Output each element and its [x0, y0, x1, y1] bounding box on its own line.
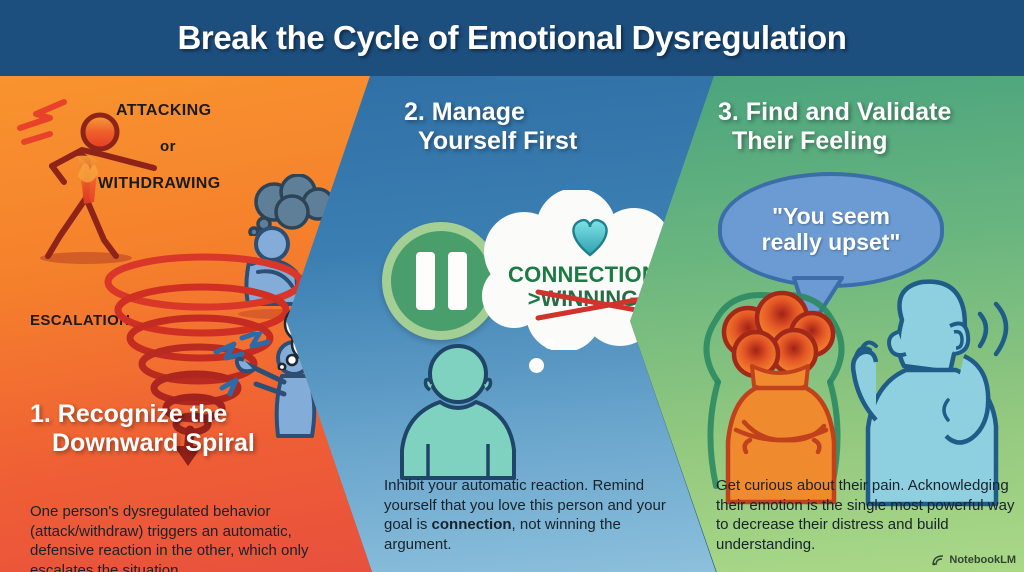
panel-2-heading-line2: Yourself First	[404, 127, 577, 156]
panel-3-heading-line1: 3. Find and Validate	[718, 98, 951, 126]
listening-person-hand-to-ear-icon	[846, 270, 1024, 510]
panel-2-heading: 2. Manage Yourself First	[404, 98, 577, 156]
watermark-label: NotebookLM	[949, 554, 1016, 566]
panels-container: ATTACKING or WITHDRAWING ESCALATION	[0, 70, 1024, 572]
panel-1-body: One person's dysregulated behavior (atta…	[30, 502, 330, 572]
notebooklm-logo-icon	[932, 555, 945, 566]
thought-bubble-dot-small-icon	[544, 338, 555, 349]
label-withdrawing: WITHDRAWING	[98, 175, 221, 193]
thought-bubble-dot-large-icon	[529, 358, 544, 373]
panel-2-heading-line1: 2. Manage	[404, 98, 525, 126]
pause-bar-left	[416, 252, 435, 310]
panel-2-body: Inhibit your automatic reaction. Remind …	[384, 476, 676, 554]
speech-line-2: really upset"	[762, 229, 901, 255]
heart-icon	[568, 215, 612, 257]
speech-bubble-text: "You seem really upset"	[762, 204, 901, 256]
panel-3-heading: 3. Find and Validate Their Feeling	[718, 98, 951, 156]
infographic-root: Break the Cycle of Emotional Dysregulati…	[0, 0, 1024, 572]
header-bar: Break the Cycle of Emotional Dysregulati…	[0, 0, 1024, 76]
panel-1-heading-line1: 1. Recognize the	[30, 400, 227, 428]
speech-line-1: "You seem	[772, 203, 890, 229]
watermark: NotebookLM	[932, 554, 1016, 566]
calm-person-figure-icon	[390, 340, 526, 480]
label-attacking: ATTACKING	[116, 102, 211, 120]
panel-1-heading: 1. Recognize the Downward Spiral	[30, 400, 255, 458]
greater-than-symbol: >	[528, 286, 541, 311]
pause-bar-right	[448, 252, 467, 310]
panel-3-body: Get curious about their pain. Acknowledg…	[716, 476, 1016, 554]
panel-1-heading-line2: Downward Spiral	[30, 429, 255, 458]
page-title: Break the Cycle of Emotional Dysregulati…	[177, 19, 846, 57]
label-or: or	[160, 138, 176, 155]
panel-3-heading-line2: Their Feeling	[718, 127, 888, 156]
panel-2-body-bold: connection	[432, 516, 512, 533]
winning-label: WINNING	[541, 286, 639, 311]
